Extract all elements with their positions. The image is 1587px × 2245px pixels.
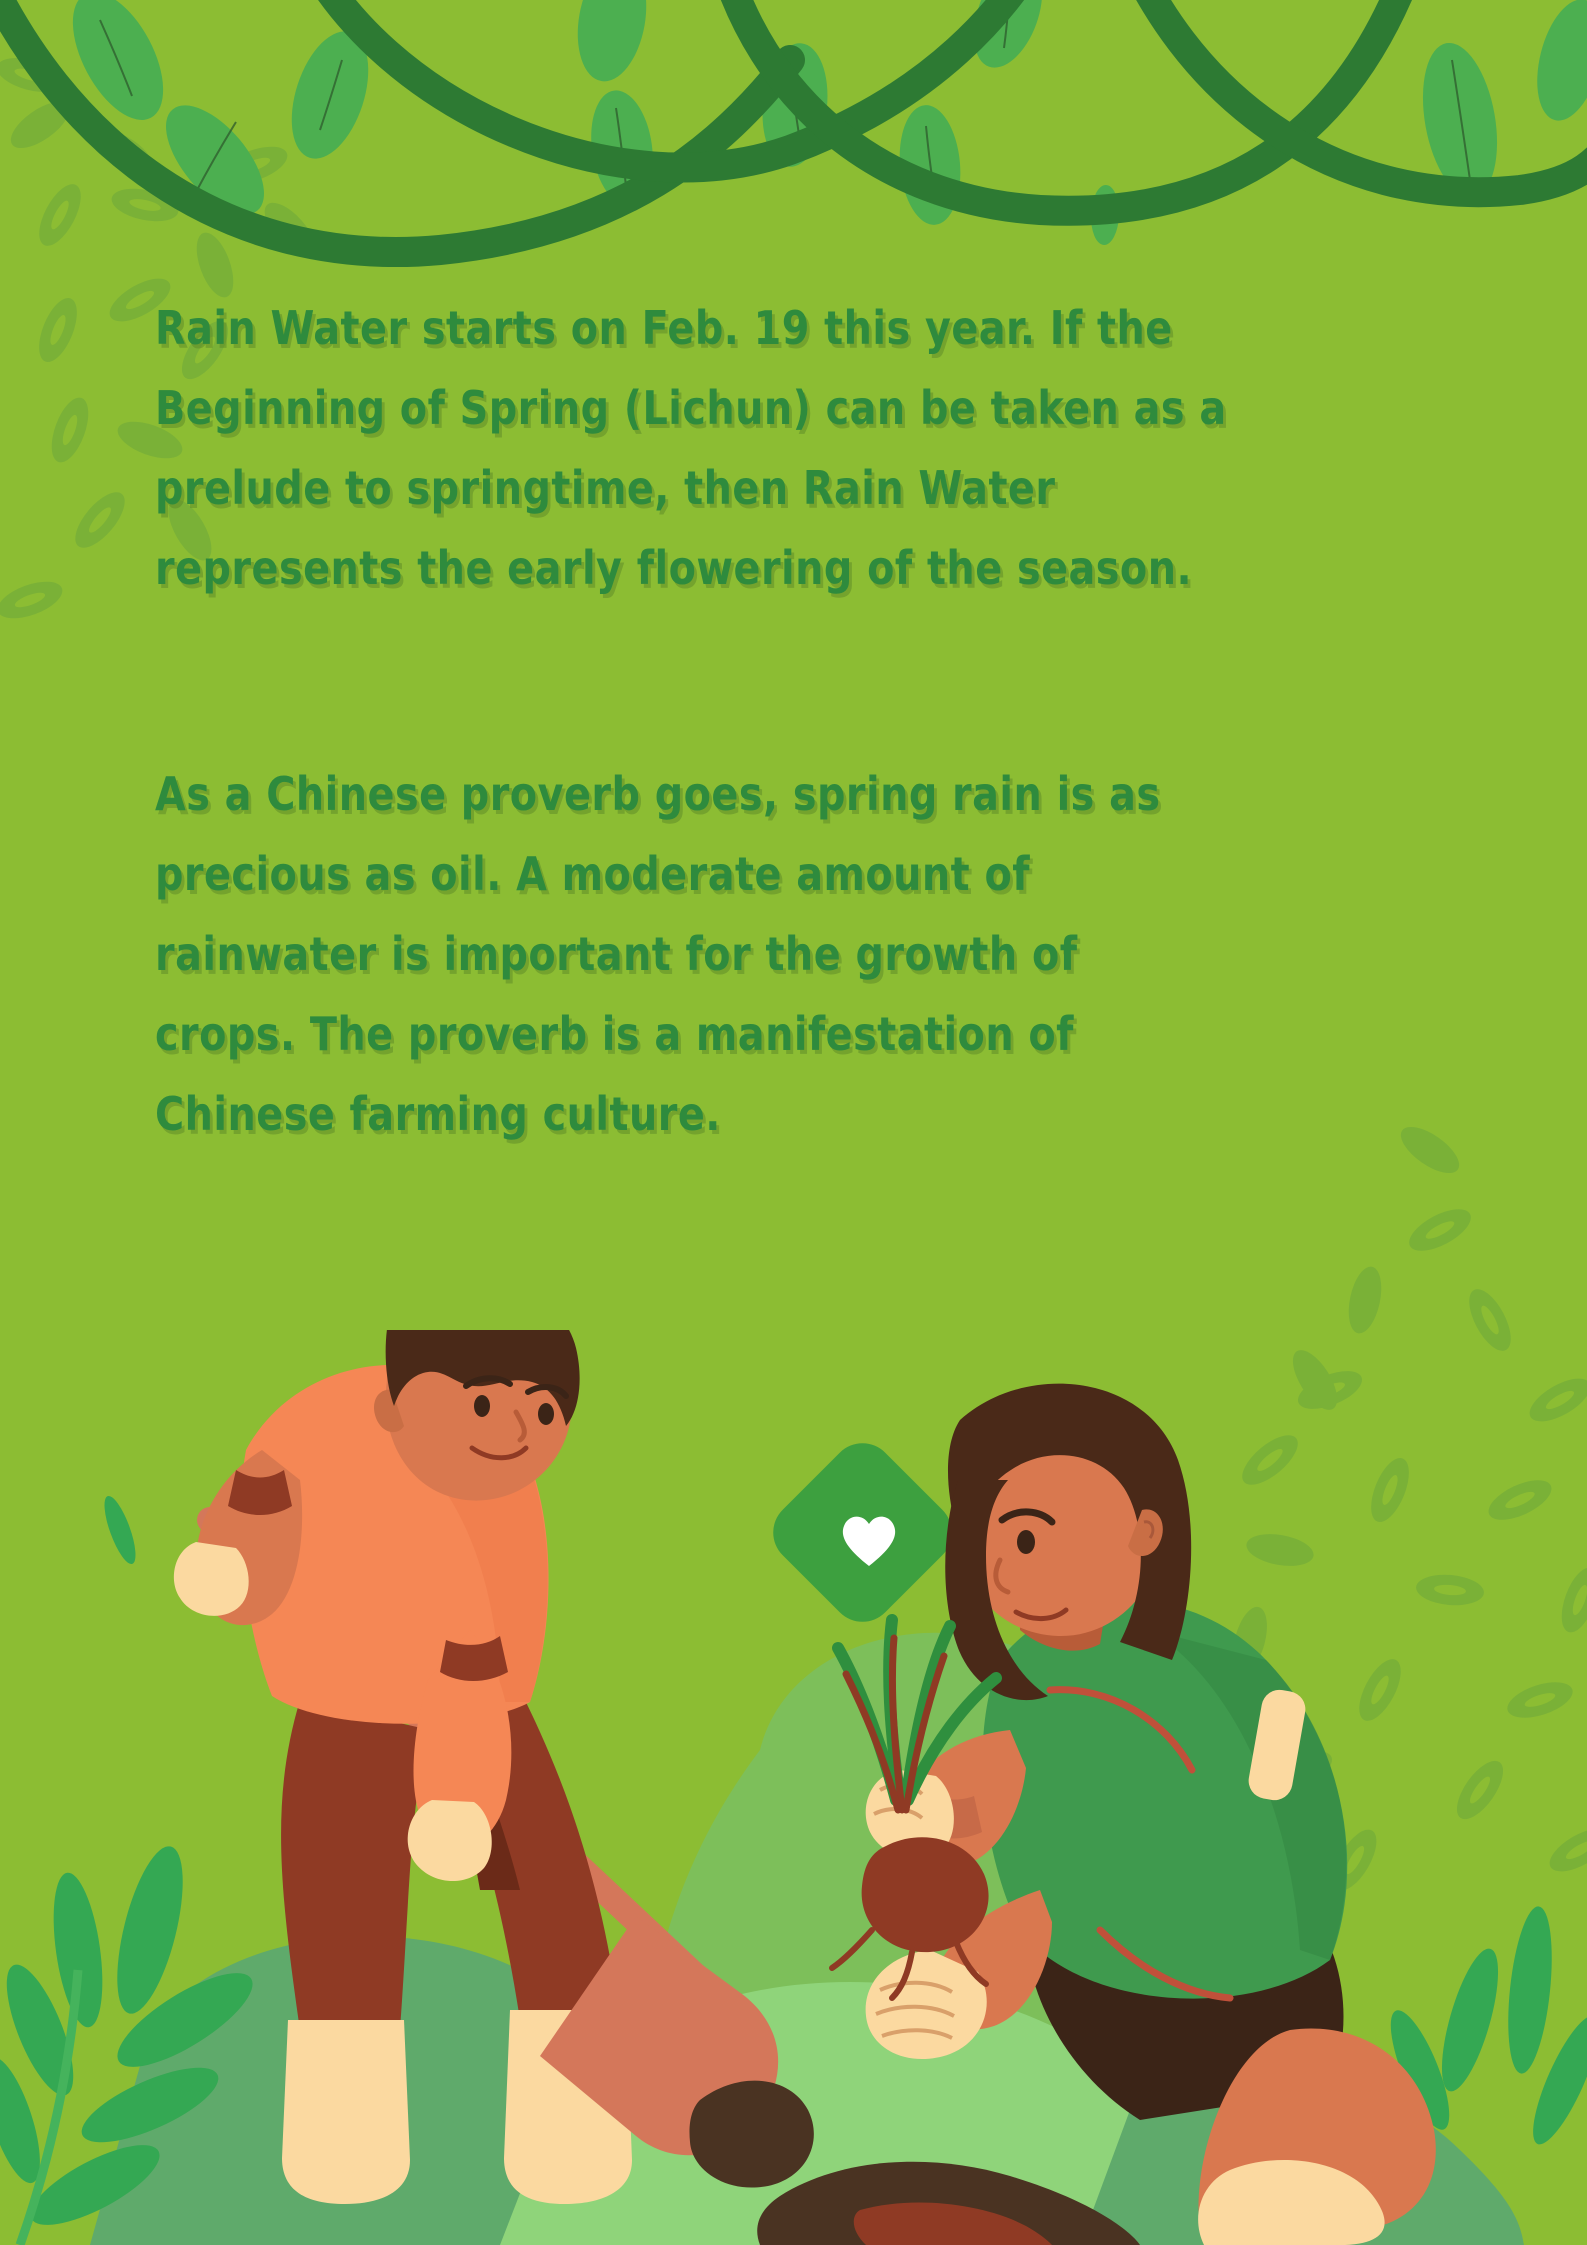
paragraph-1-line-4: represents the early flowering of the se… [155,528,1413,608]
paragraph-rain-water-intro: Rain Water starts on Feb. 19 this year. … [155,288,1413,608]
poster-canvas: Rain Water starts on Feb. 19 this year. … [0,0,1587,2245]
article-text: Rain Water starts on Feb. 19 this year. … [155,288,1465,1154]
paragraph-1-line-1: Rain Water starts on Feb. 19 this year. … [155,288,1413,368]
gardening-illustration [0,1330,1587,2245]
paragraph-2-line-1: As a Chinese proverb goes, spring rain i… [155,754,1413,834]
soil-pile [0,1330,1587,2245]
paragraph-chinese-proverb: As a Chinese proverb goes, spring rain i… [155,754,1413,1154]
paragraph-1-line-2: Beginning of Spring (Lichun) can be take… [155,368,1413,448]
paragraph-2-line-4: crops. The proverb is a manifestation of [155,994,1413,1074]
paragraph-2-line-3: rainwater is important for the growth of [155,914,1413,994]
paragraph-2-line-5: Chinese farming culture. [155,1074,1413,1154]
paragraph-2-line-2: precious as oil. A moderate amount of [155,834,1413,914]
paragraph-1-line-3: prelude to springtime, then Rain Water [155,448,1413,528]
